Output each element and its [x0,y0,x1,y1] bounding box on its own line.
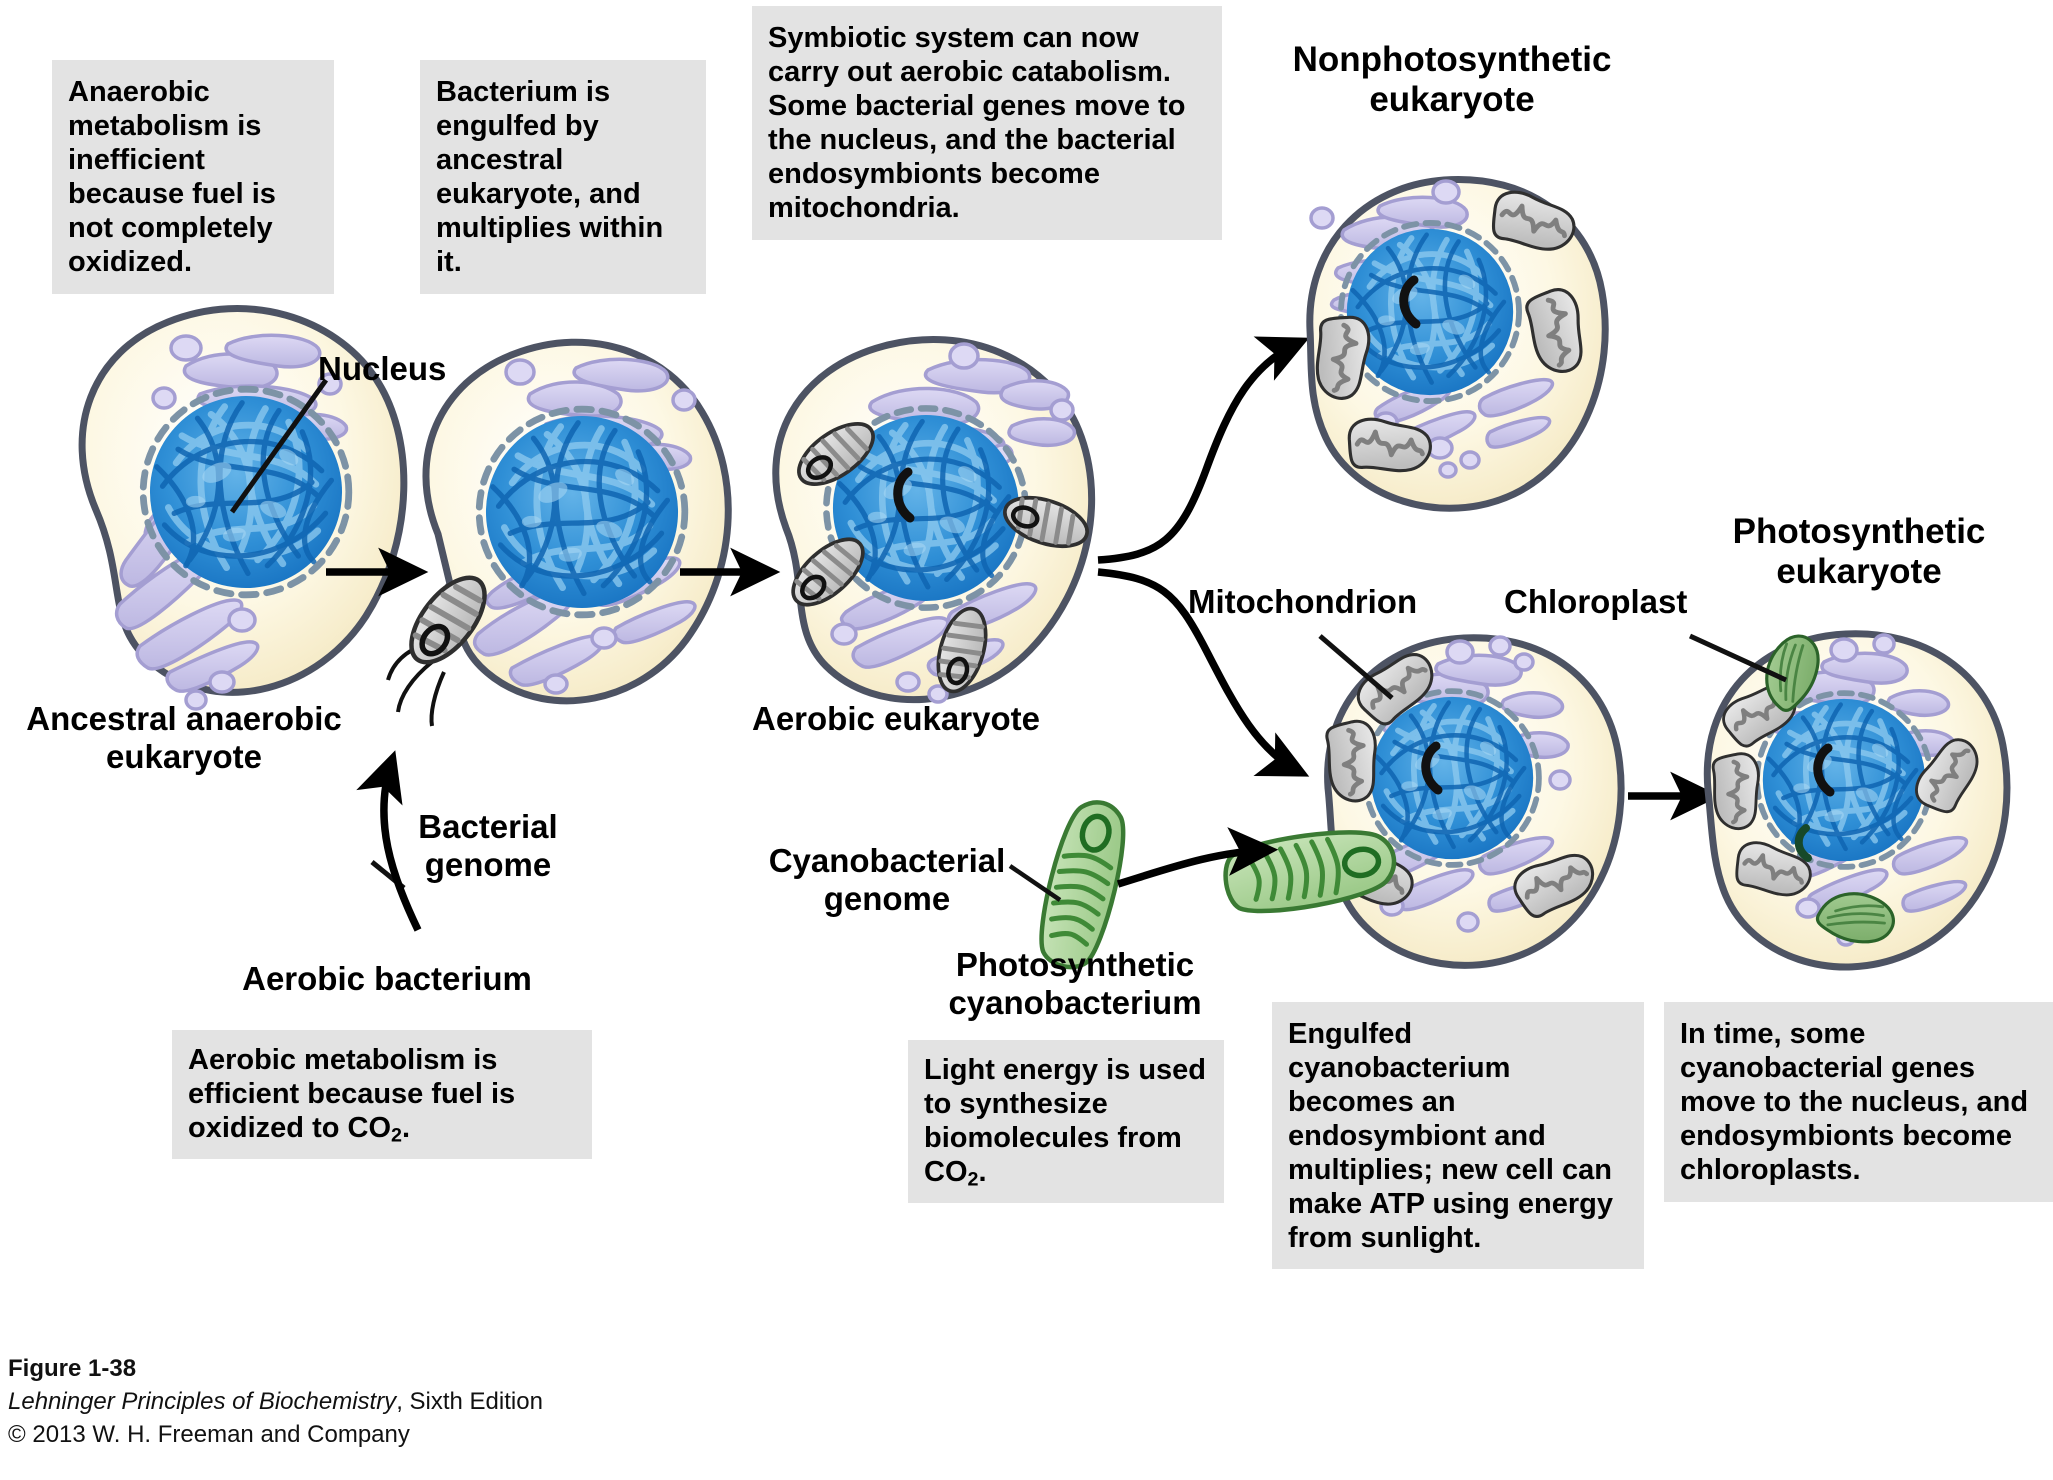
figure-number: Figure 1-38 [8,1352,708,1385]
label-photosynthetic-cyanobacterium: Photosynthetic cyanobacterium [920,946,1230,1021]
callout-in-time-chloroplasts: In time, some cyanobacterial genes move … [1664,1002,2053,1202]
symbiotic-text-post: . [952,192,960,224]
symbiotic-text-pre: Symbiotic system can now carry out aerob… [768,22,1185,190]
light-energy-text-b: . [978,1156,986,1188]
callout-engulfed-cyanobacterium: Engulfed cyanobacterium becomes an endos… [1272,1002,1644,1269]
label-ancestral-anaerobic-eukaryote: Ancestral anaerobic eukaryote [6,700,362,775]
light-energy-text-a: Light energy is used to synthesize biomo… [924,1054,1206,1188]
figure-canvas: Anaerobic metabolism is inefficient beca… [0,0,2053,1480]
label-cyanobacterial-genome: Cyanobacterial genome [752,842,1022,917]
symbiotic-text-bold: mitochondria [768,192,952,224]
callout-light-energy: Light energy is used to synthesize biomo… [908,1040,1224,1203]
figure-source-title: Lehninger Principles of Biochemistry [8,1388,396,1415]
label-nucleus: Nucleus [318,350,446,388]
in-time-text-bold: chloroplasts [1680,1154,1852,1186]
mitochondrion [1713,753,1761,829]
cell-engulfing-bacterium [388,342,728,726]
label-bacterial-genome: Bacterial genome [398,808,578,883]
label-aerobic-bacterium: Aerobic bacterium [212,960,562,998]
label-aerobic-eukaryote: Aerobic eukaryote [752,700,1040,738]
callout-bacterium-engulfed: Bacterium is engulfed by ancestral eukar… [420,60,706,294]
label-chloroplast: Chloroplast [1504,583,1687,621]
in-time-text-pre: In time, some cyanobacterial genes move … [1680,1018,2028,1152]
aerobic-metab-text-a: Aerobic metabolism is efficient because … [188,1044,515,1144]
cell-nonphotosynthetic-eukaryote [1310,179,1605,508]
callout-aerobic-metabolism: Aerobic metabolism is efficient because … [172,1030,592,1159]
figure-copyright: © 2013 W. H. Freeman and Company [8,1418,708,1451]
cell-photosynthetic-eukaryote [1707,628,2007,967]
label-photosynthetic-eukaryote: Photosynthetic eukaryote [1664,512,2053,592]
cell-engulfing-cyanobacterium [1221,637,1621,965]
figure-source: Lehninger Principles of Biochemistry, Si… [8,1385,708,1418]
cell-aerobic-eukaryote [776,340,1093,702]
figure-caption: Figure 1-38 Lehninger Principles of Bioc… [8,1352,708,1451]
callout-anaerobic-metabolism: Anaerobic metabolism is inefficient beca… [52,60,334,294]
figure-source-edition: , Sixth Edition [396,1388,543,1415]
label-nonphotosynthetic-eukaryote: Nonphotosynthetic eukaryote [1242,40,1662,120]
aerobic-metab-subscript: 2 [391,1124,402,1146]
callout-symbiotic-system: Symbiotic system can now carry out aerob… [752,6,1222,240]
in-time-text-post: . [1852,1154,1860,1186]
light-energy-subscript: 2 [968,1168,979,1190]
arrow-branch-nonphotosynthetic [1098,342,1300,560]
label-mitochondrion: Mitochondrion [1188,583,1417,621]
aerobic-metab-text-b: . [402,1112,410,1144]
